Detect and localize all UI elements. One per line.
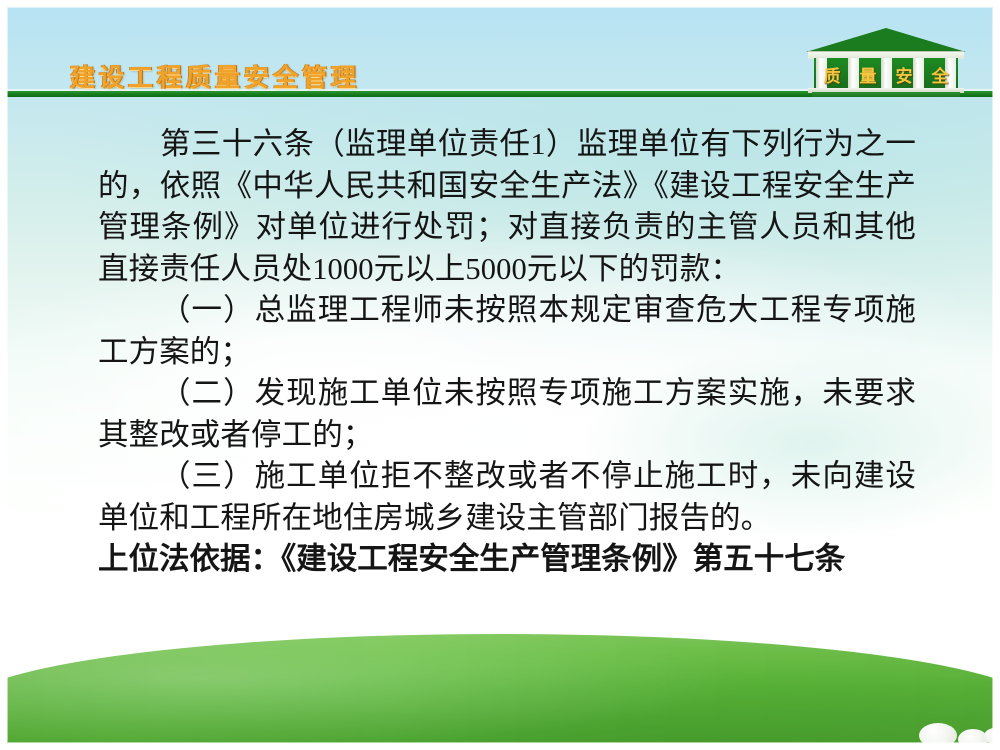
temple-column-icon [816, 58, 827, 88]
sheep-icon [984, 728, 1000, 744]
quality-safety-temple-logo: 质 量 安 全 [806, 28, 966, 98]
temple-column-icon [945, 58, 956, 88]
paragraph-clause-1: （一）总监理工程师未按照本规定审查危大工程专项施工方案的； [98, 290, 916, 373]
presentation-slide: 建设工程质量安全管理 质 量 安 全 第 [0, 0, 1000, 750]
slide-header: 建设工程质量安全管理 质 量 安 全 [0, 0, 1000, 100]
temple-colonnade [814, 58, 958, 88]
temple-base-platform [812, 92, 960, 97]
paragraph-clause-2: （二）发现施工单位未按照专项施工方案实施，未要求其整改或者停工的； [98, 373, 916, 456]
temple-column-icon [913, 58, 924, 88]
temple-pediment-icon [806, 28, 966, 52]
temple-column-icon [881, 58, 892, 88]
slide-body: 第三十六条（监理单位责任1）监理单位有下列行为之一的，依照《中华人民共和国安全生… [98, 124, 916, 581]
sheep-icon [958, 729, 988, 750]
paragraph-article-36-intro: 第三十六条（监理单位责任1）监理单位有下列行为之一的，依照《中华人民共和国安全生… [98, 124, 916, 290]
paragraph-clause-3: （三）施工单位拒不整改或者不停止施工时，未向建设单位和工程所在地住房城乡建设主管… [98, 456, 916, 539]
temple-column-icon [848, 58, 859, 88]
background-grass-shading [0, 634, 1000, 750]
paragraph-legal-basis: 上位法依据：《建设工程安全生产管理条例》第五十七条 [98, 539, 916, 581]
sheep-icon [919, 723, 957, 748]
